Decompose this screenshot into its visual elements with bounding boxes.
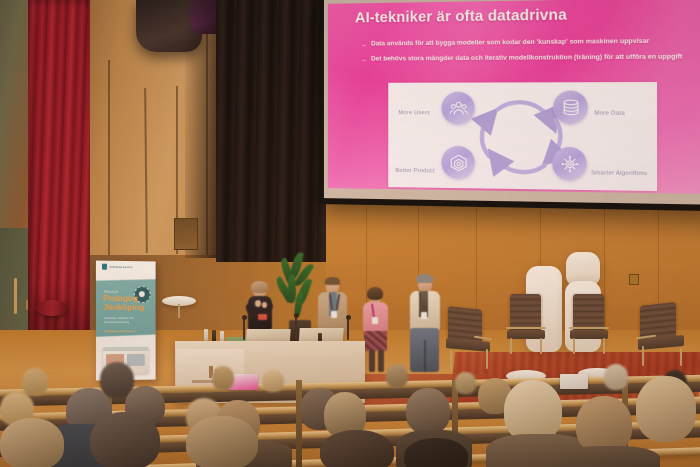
banner-headline: Pedagog Jönköping: [103, 294, 144, 313]
database-icon: [560, 97, 581, 117]
banner-headline-line2: Jönköping: [103, 303, 144, 313]
arrow-bullet-icon: →: [360, 40, 371, 50]
door-handle-icon[interactable]: [14, 278, 17, 314]
water-bottle-1: [204, 329, 208, 341]
stage-chair-3[interactable]: [569, 294, 613, 356]
label-smarter-algorithms: Smarter Algorithms: [591, 170, 647, 177]
label-more-data: More Data: [594, 110, 625, 116]
presentation-slide: AI-tekniker är ofta datadrivna → Data an…: [328, 0, 700, 194]
label-more-users: More Users: [398, 110, 430, 116]
arrow-bullet-icon: →: [360, 56, 371, 66]
banner-org-name: Jönköpings kommun: [109, 265, 133, 268]
node-better-product: [442, 146, 475, 179]
slide-title: AI-tekniker är ofta datadrivna: [355, 5, 700, 26]
microphone-1: [243, 318, 245, 340]
projection-screen: AI-tekniker är ofta datadrivna → Data an…: [318, 0, 700, 211]
screenshot-root: AI-tekniker är ofta datadrivna → Data an…: [0, 0, 700, 467]
rollup-banner: Jönköpings kommun Få koll på Pedagog Jön…: [96, 261, 156, 381]
flywheel-diagram: More Users More Data Smarter Algorithms …: [388, 82, 657, 191]
banner-org-logo: Jönköpings kommun: [102, 264, 133, 270]
slide-bullet-list: → Data används för att bygga modeller so…: [360, 36, 700, 70]
municipality-crest-icon: [102, 264, 107, 270]
stage-chair-1[interactable]: [446, 308, 494, 370]
node-more-users: [442, 92, 475, 125]
dark-stage-curtain: [216, 0, 326, 262]
curtain-tieback-icon: [36, 300, 68, 316]
screen-mat: AI-tekniker är ofta datadrivna → Data an…: [324, 0, 700, 205]
banner-url: pedagog.jonkoping.se: [104, 329, 136, 333]
slide-bullet-1: → Data används för att bygga modeller so…: [360, 36, 700, 51]
banner-body-text: Inspiration, reflektion och kompetensutv…: [104, 317, 150, 324]
people-icon: [448, 98, 468, 117]
wall-outlet-icon: [629, 274, 639, 285]
slide-bullet-2-text: Det behövs stora mängder data och iterat…: [371, 52, 682, 64]
product-cube-icon: [448, 153, 468, 173]
node-smarter-algorithms: [552, 147, 587, 181]
slide-bullet-1-text: Data används för att bygga modeller som …: [371, 37, 649, 49]
wall-vent-icon: [174, 218, 198, 250]
red-velvet-curtain: [28, 0, 90, 352]
slide-bullet-2: → Det behövs stora mängder data och iter…: [360, 52, 700, 66]
node-more-data: [553, 91, 588, 124]
microphone-3: [347, 318, 349, 340]
side-table-3: [162, 296, 196, 318]
stage-chair-4[interactable]: [636, 304, 690, 370]
brain-gear-icon: [559, 154, 580, 174]
label-better-product: Better Product: [395, 168, 435, 175]
stage-chair-2[interactable]: [506, 294, 550, 356]
audience-laptop-2: [560, 374, 588, 389]
microphone-2: [295, 316, 297, 340]
